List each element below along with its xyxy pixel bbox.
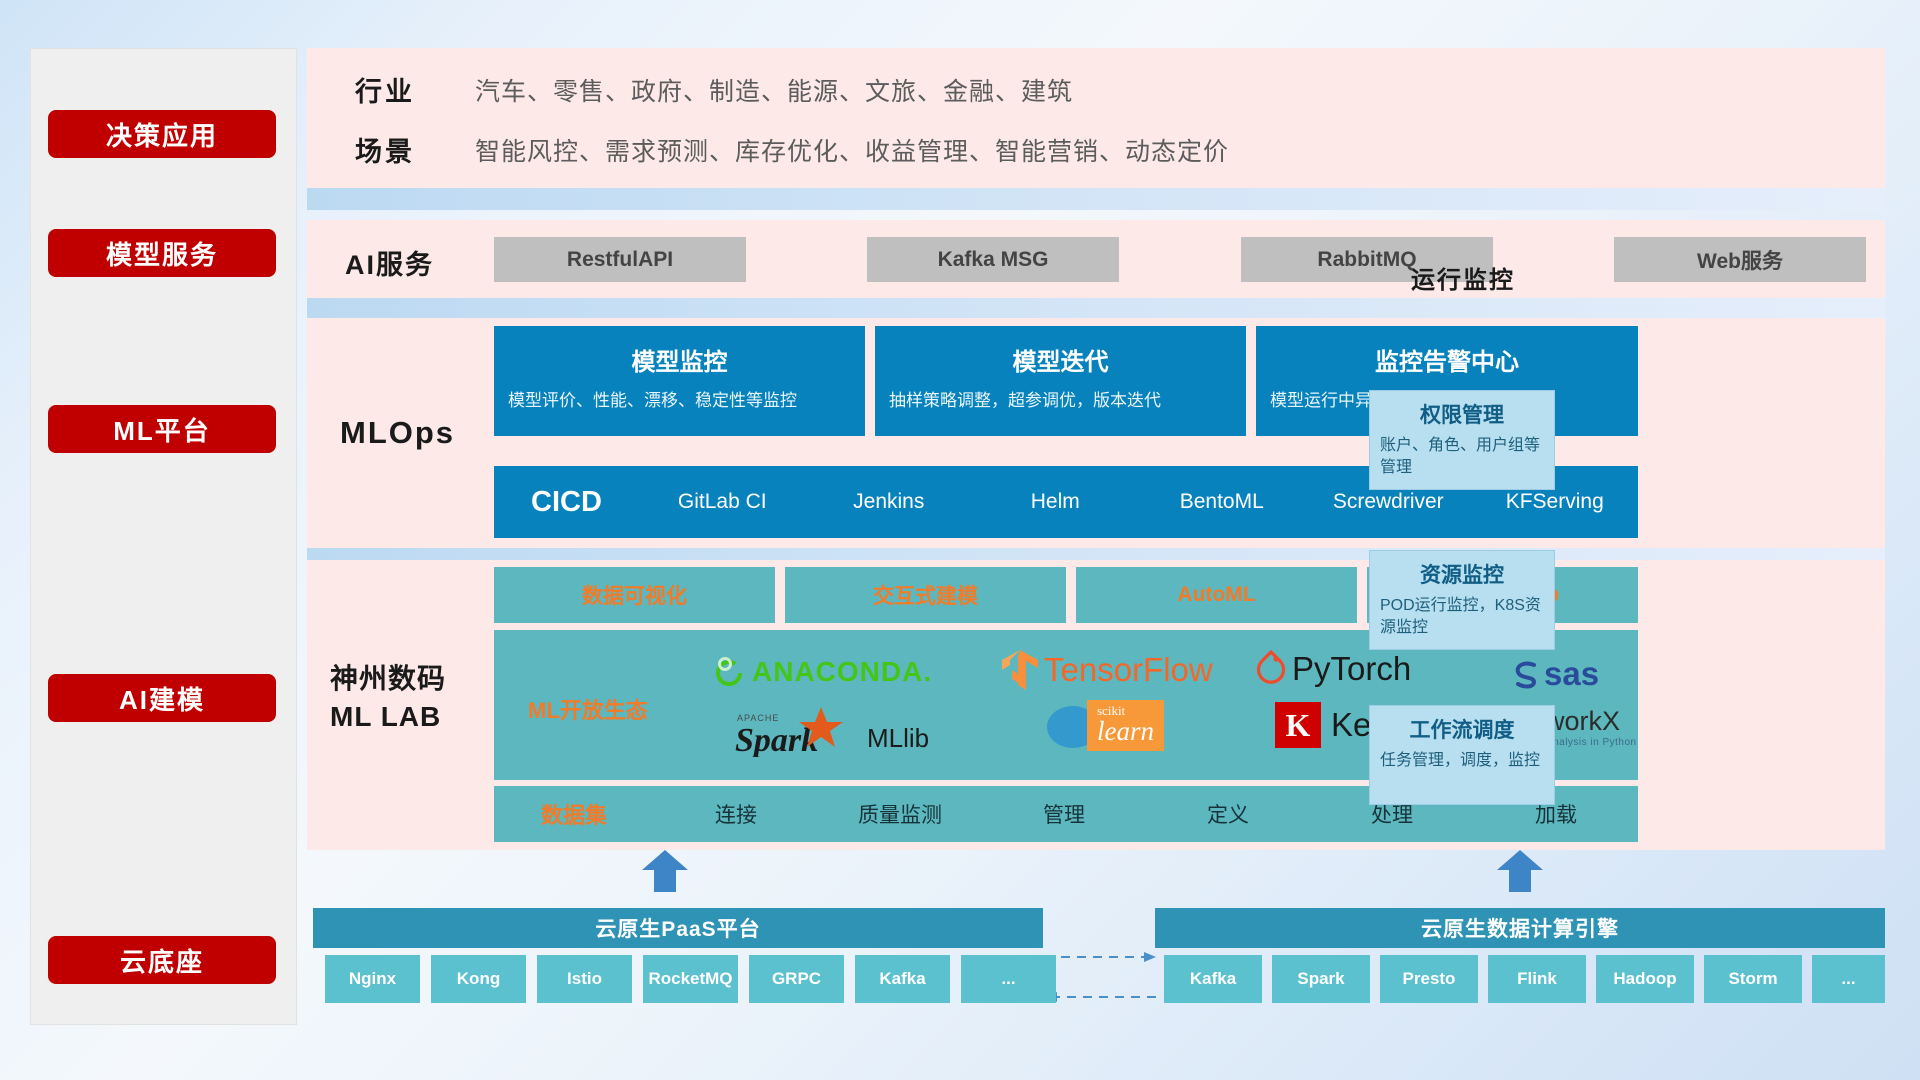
cloud-chip-istio[interactable]: Istio (537, 955, 632, 1003)
rail-item-ai-modeling[interactable]: AI建模 (48, 674, 276, 722)
tile-label: AutoML (1177, 583, 1255, 607)
learn-word: learn (1097, 719, 1154, 745)
monitor-card-title: 资源监控 (1380, 559, 1544, 589)
chip-label: Storm (1728, 970, 1777, 989)
chip-label: Nginx (349, 970, 396, 989)
left-rail (30, 48, 297, 1025)
pytorch-icon (1255, 650, 1287, 688)
cloud-chip-nginx[interactable]: Nginx (325, 955, 420, 1003)
cloud-chip-rocketmq[interactable]: RocketMQ (643, 955, 738, 1003)
apps-industry-key: 行业 (355, 70, 475, 109)
chip-label: Kong (457, 970, 500, 989)
ml-lab-label-line1: 神州数码 (330, 660, 446, 698)
service-box-label: Kafka MSG (938, 248, 1049, 272)
tensorflow-icon (1000, 648, 1040, 692)
spark-mllib-logo: APACHE Spark MLlib (735, 705, 929, 757)
arrow-up-paas-icon (640, 850, 690, 892)
cloud-chip-kong[interactable]: Kong (431, 955, 526, 1003)
sas-wordmark: sas (1544, 655, 1599, 693)
arrow-up-data-engine-icon (1495, 850, 1545, 892)
tile-interactive-modeling[interactable]: 交互式建模 (785, 567, 1066, 623)
keras-mark-icon: K (1275, 702, 1321, 748)
scikit-learn-logo: scikit learn (1045, 700, 1164, 751)
cloud-chip-grpc[interactable]: GRPC (749, 955, 844, 1003)
cloud-paas-title: 云原生PaaS平台 (595, 913, 760, 943)
mlops-label: MLOps (340, 415, 455, 451)
cicd-item-gitlab-ci[interactable]: GitLab CI (639, 491, 806, 513)
cloud-chip-flink[interactable]: Flink (1488, 955, 1586, 1003)
monitor-card-desc: 任务管理，调度，监控 (1380, 750, 1544, 772)
chip-label: Flink (1517, 970, 1557, 989)
tile-data-visualization[interactable]: 数据可视化 (494, 567, 775, 623)
service-box-web-service[interactable]: Web服务 (1614, 237, 1866, 282)
scikit-learn-badge: scikit learn (1087, 700, 1164, 751)
rail-label: 云底座 (120, 942, 204, 979)
service-box-label: Web服务 (1697, 245, 1783, 275)
cloud-chip-more-left[interactable]: ... (961, 955, 1056, 1003)
monitor-card-permissions[interactable]: 权限管理 账户、角色、用户组等管理 (1369, 390, 1555, 490)
dataset-item-manage[interactable]: 管理 (982, 799, 1146, 829)
apps-row-industry: 行业 汽车、零售、政府、制造、能源、文旅、金融、建筑 (355, 70, 1073, 109)
diagram-canvas: 决策应用 模型服务 ML平台 AI建模 云底座 行业 汽车、零售、政府、制造、能… (0, 0, 1920, 1080)
chip-label: Istio (567, 970, 602, 989)
mlops-card-title: 模型监控 (508, 342, 851, 377)
apps-scenario-value: 智能风控、需求预测、库存优化、收益管理、智能营销、动态定价 (475, 132, 1229, 168)
monitor-card-desc: POD运行监控，K8S资源监控 (1380, 595, 1544, 640)
chip-label: Presto (1403, 970, 1456, 989)
sas-logo: sas (1510, 655, 1599, 693)
ml-ecosystem-label: ML开放生态 (528, 693, 648, 725)
cloud-chip-more-right[interactable]: ... (1812, 955, 1885, 1003)
rail-item-decision-apps[interactable]: 决策应用 (48, 110, 276, 158)
cloud-chip-hadoop[interactable]: Hadoop (1596, 955, 1694, 1003)
tile-label: 数据可视化 (582, 580, 687, 610)
service-box-label: RestfulAPI (567, 248, 673, 272)
cloud-chip-presto[interactable]: Presto (1380, 955, 1478, 1003)
apps-row-scenario: 场景 智能风控、需求预测、库存优化、收益管理、智能营销、动态定价 (355, 130, 1229, 169)
dataset-item-quality-monitor[interactable]: 质量监测 (818, 799, 982, 829)
chip-label: Hadoop (1613, 970, 1676, 989)
cloud-chip-kafka-right[interactable]: Kafka (1164, 955, 1262, 1003)
rail-label: 决策应用 (106, 116, 218, 153)
rail-item-cloud-base[interactable]: 云底座 (48, 936, 276, 984)
svg-text:Spark: Spark (735, 722, 818, 757)
dataset-lead-label: 数据集 (494, 798, 654, 830)
mlops-card-title: 模型迭代 (889, 342, 1232, 377)
monitor-card-title: 工作流调度 (1380, 714, 1544, 744)
ml-lab-label: 神州数码 ML LAB (330, 660, 446, 736)
ml-lab-label-line2: ML LAB (330, 698, 446, 736)
chip-label: ... (1001, 970, 1015, 989)
mllib-wordmark: MLlib (867, 723, 929, 754)
pytorch-logo: PyTorch (1255, 650, 1411, 688)
monitor-column: 运行监控 (1363, 260, 1563, 295)
tensorflow-wordmark: TensorFlow (1044, 651, 1213, 689)
dataset-item-define[interactable]: 定义 (1146, 799, 1310, 829)
spark-icon: APACHE Spark (735, 705, 865, 757)
rail-item-ml-platform[interactable]: ML平台 (48, 405, 276, 453)
cicd-item-bentoml[interactable]: BentoML (1139, 491, 1306, 513)
cicd-item-jenkins[interactable]: Jenkins (806, 491, 973, 513)
tile-label: 交互式建模 (873, 580, 978, 610)
service-box-kafka-msg[interactable]: Kafka MSG (867, 237, 1119, 282)
cloud-chip-storm[interactable]: Storm (1704, 955, 1802, 1003)
pytorch-wordmark: PyTorch (1292, 650, 1411, 688)
chip-label: Kafka (879, 970, 925, 989)
tile-automl[interactable]: AutoML (1076, 567, 1357, 623)
chip-label: ... (1841, 970, 1855, 989)
monitor-card-desc: 账户、角色、用户组等管理 (1380, 435, 1544, 480)
service-box-restfulapi[interactable]: RestfulAPI (494, 237, 746, 282)
chip-label: Spark (1297, 970, 1344, 989)
monitor-card-title: 权限管理 (1380, 399, 1544, 429)
anaconda-icon (712, 655, 746, 689)
divider-service-mlops (307, 298, 1885, 320)
chip-label: GRPC (772, 970, 821, 989)
rail-label: AI建模 (119, 680, 205, 717)
mlops-card-desc: 抽样策略调整，超参调优，版本迭代 (889, 389, 1232, 414)
cloud-chip-spark[interactable]: Spark (1272, 955, 1370, 1003)
mlops-card-model-iteration[interactable]: 模型迭代 抽样策略调整，超参调优，版本迭代 (875, 326, 1246, 436)
cloud-data-engine-title-bar: 云原生数据计算引擎 (1155, 908, 1885, 948)
apps-scenario-key: 场景 (355, 130, 475, 169)
sas-icon (1510, 658, 1542, 690)
mlops-card-title: 监控告警中心 (1270, 342, 1624, 377)
rail-item-model-service[interactable]: 模型服务 (48, 229, 276, 277)
cloud-data-engine-title: 云原生数据计算引擎 (1421, 913, 1619, 943)
divider-apps-service (307, 188, 1885, 210)
monitor-card-resources[interactable]: 资源监控 POD运行监控，K8S资源监控 (1369, 550, 1555, 650)
anaconda-logo: ANACONDA. (712, 655, 932, 689)
chip-label: Kafka (1190, 970, 1236, 989)
tensorflow-logo: TensorFlow (1000, 648, 1213, 692)
cicd-item-helm[interactable]: Helm (972, 491, 1139, 513)
anaconda-wordmark: ANACONDA. (752, 656, 932, 688)
chip-label: RocketMQ (648, 970, 732, 989)
cicd-lead-label: CICD (494, 486, 639, 519)
cicd-item-screwdriver[interactable]: Screwdriver (1305, 491, 1472, 513)
monitor-card-workflow[interactable]: 工作流调度 任务管理，调度，监控 (1369, 705, 1555, 805)
cloud-paas-title-bar: 云原生PaaS平台 (313, 908, 1043, 948)
mlops-card-model-monitor[interactable]: 模型监控 模型评价、性能、漂移、稳定性等监控 (494, 326, 865, 436)
cicd-item-kfserving[interactable]: KFServing (1472, 491, 1639, 513)
paas-to-engine-connectors (1043, 935, 1158, 1015)
monitor-column-title: 运行监控 (1363, 260, 1563, 295)
ai-service-label: AI服务 (345, 243, 434, 282)
dataset-item-connect[interactable]: 连接 (654, 799, 818, 829)
mlops-card-desc: 模型评价、性能、漂移、稳定性等监控 (508, 389, 851, 414)
rail-label: 模型服务 (106, 235, 218, 272)
rail-label: ML平台 (113, 411, 211, 448)
cloud-chip-kafka-left[interactable]: Kafka (855, 955, 950, 1003)
apps-industry-value: 汽车、零售、政府、制造、能源、文旅、金融、建筑 (475, 72, 1073, 108)
